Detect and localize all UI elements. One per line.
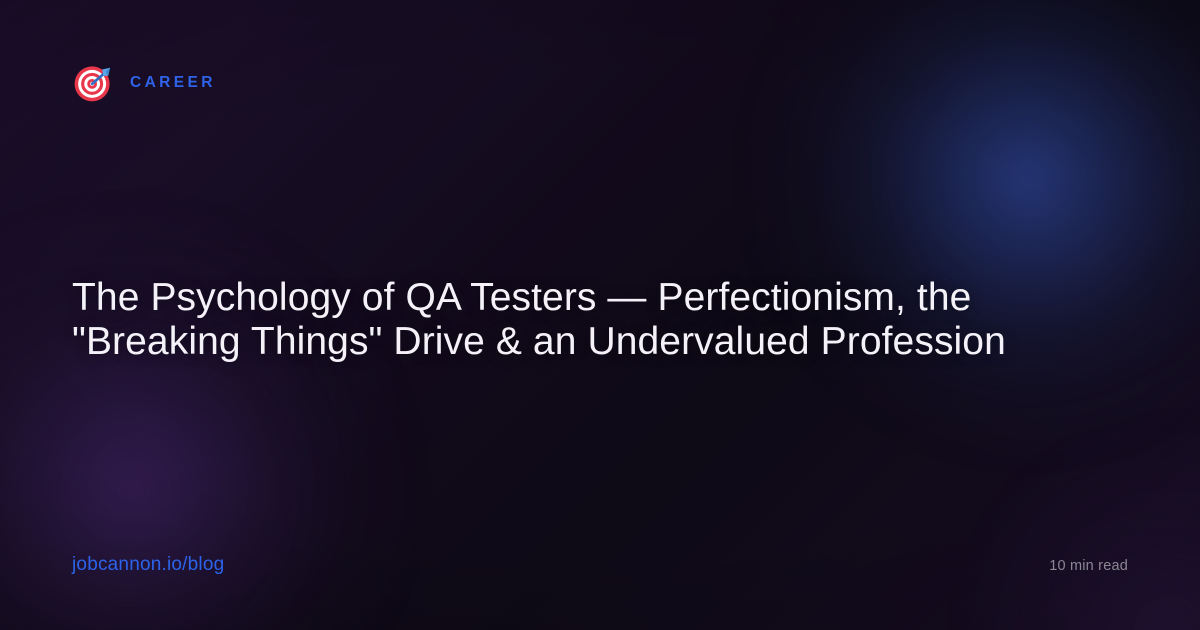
card-content: CAREER The Psychology of QA Testers — Pe…	[0, 0, 1200, 630]
dartboard-target-icon	[72, 62, 114, 104]
og-card: CAREER The Psychology of QA Testers — Pe…	[0, 0, 1200, 630]
page-title: The Psychology of QA Testers — Perfectio…	[72, 276, 1082, 364]
read-time-label: 10 min read	[1049, 559, 1128, 574]
brand-label: CAREER	[130, 75, 216, 91]
brand-badge: CAREER	[72, 62, 216, 104]
site-url-link[interactable]: jobcannon.io/blog	[72, 555, 224, 574]
card-footer: jobcannon.io/blog 10 min read	[72, 555, 1128, 574]
